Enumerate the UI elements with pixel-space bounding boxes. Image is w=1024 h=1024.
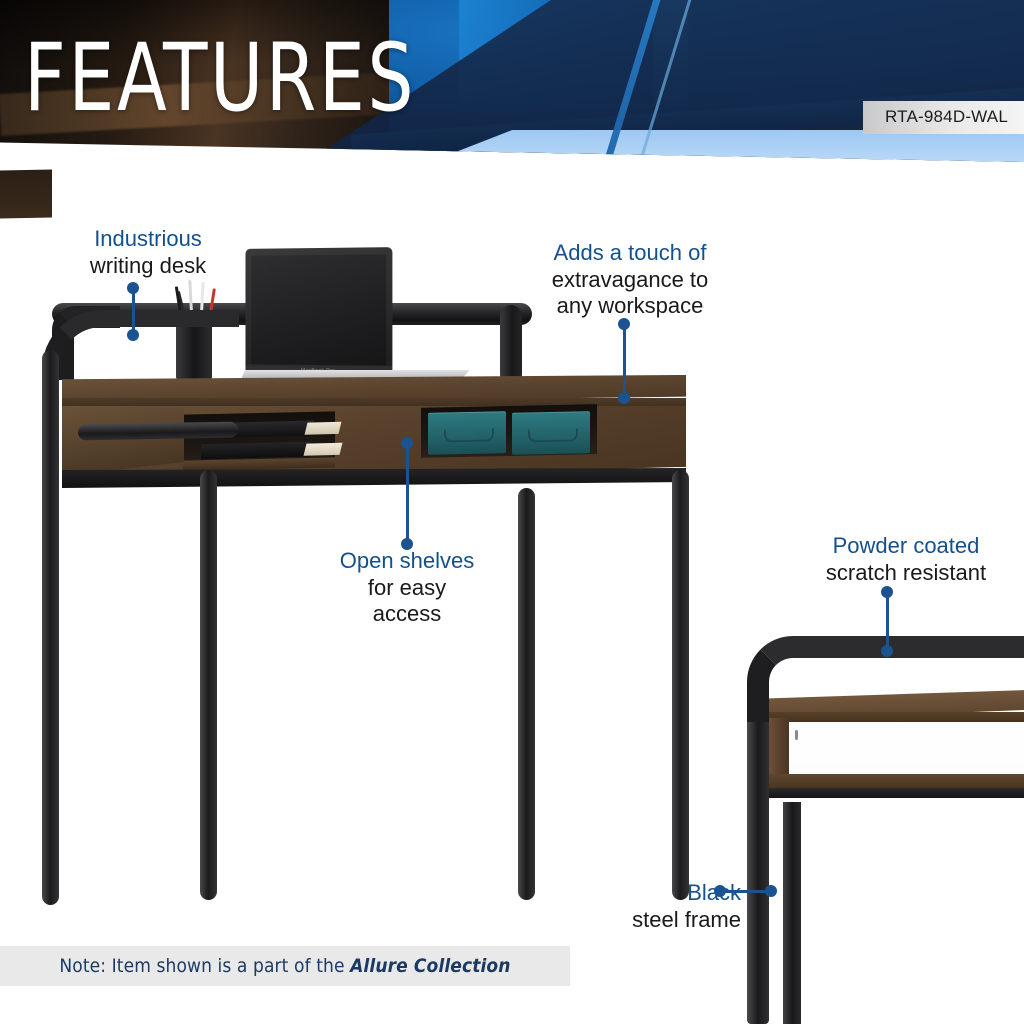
- callout-leader-line: [720, 890, 768, 893]
- header-banner: FEATURES RTA-984D-WAL: [0, 0, 1024, 162]
- callout-powder-coated: Powder coated scratch resistant: [788, 533, 1024, 586]
- banner-light-blue-corner: [430, 130, 1024, 162]
- inset-screw-icon: [795, 730, 798, 740]
- storage-bin-right: [512, 411, 590, 455]
- desk-leg-back-left: [200, 470, 217, 900]
- desk-leg-right: [672, 470, 689, 900]
- right-side-cubby: [0, 169, 52, 218]
- callout-line-2: extravagance to: [515, 267, 745, 294]
- features-infographic-page: FEATURES RTA-984D-WAL MacBook Pro: [0, 0, 1024, 1024]
- callout-line-2: scratch resistant: [788, 560, 1024, 587]
- callout-line-3: access: [307, 601, 507, 628]
- callout-line-2: for easy: [307, 575, 507, 602]
- callout-dot-anchor: [618, 392, 630, 404]
- callout-open-shelves: Open shelves for easy access: [307, 548, 507, 628]
- storage-bin-left: [428, 411, 506, 455]
- desk-leg-middle: [518, 488, 535, 900]
- inset-front-post: [747, 722, 769, 1024]
- bin-handle-icon: [528, 428, 578, 442]
- callout-leader-line: [132, 288, 135, 335]
- callout-dot-anchor: [127, 329, 139, 341]
- callout-line-3: any workspace: [515, 293, 745, 320]
- callout-line-1: Powder coated: [788, 533, 1024, 560]
- callout-line-2: writing desk: [48, 253, 248, 280]
- laptop-lid: MacBook Pro: [245, 247, 392, 377]
- callout-dot-anchor: [881, 645, 893, 657]
- inset-shelf-bottom-frame: [769, 788, 1024, 798]
- callout-line-2: steel frame: [585, 907, 741, 934]
- callout-industrious-writing-desk: Industrious writing desk: [48, 226, 248, 279]
- note-collection-name: Allure Collection: [350, 955, 510, 977]
- inset-shelf-cavity: [789, 722, 1024, 774]
- callout-leader-line: [623, 324, 626, 398]
- callout-leader-line: [406, 443, 409, 540]
- note-prefix: Note: Item shown is a part of the: [59, 955, 350, 977]
- laptop-screen: [251, 254, 386, 365]
- callout-adds-a-touch: Adds a touch of extravagance to any work…: [515, 240, 745, 320]
- bin-handle-icon: [444, 428, 494, 442]
- page-title: FEATURES: [24, 32, 416, 126]
- collection-note-text: Note: Item shown is a part of the Allure…: [59, 955, 510, 977]
- desk-left-side-bar: [78, 422, 238, 441]
- inset-back-post: [783, 802, 801, 1024]
- callout-dot-anchor: [765, 885, 777, 897]
- callout-line-1: Open shelves: [307, 548, 507, 575]
- frame-detail-inset-image: [735, 622, 1024, 1024]
- desk-leg-front-left: [42, 350, 59, 905]
- callout-leader-line: [886, 592, 889, 648]
- callout-line-1: Adds a touch of: [515, 240, 745, 267]
- callout-line-1: Industrious: [48, 226, 248, 253]
- collection-note-bar: Note: Item shown is a part of the Allure…: [0, 946, 570, 986]
- sku-badge: RTA-984D-WAL: [863, 101, 1024, 134]
